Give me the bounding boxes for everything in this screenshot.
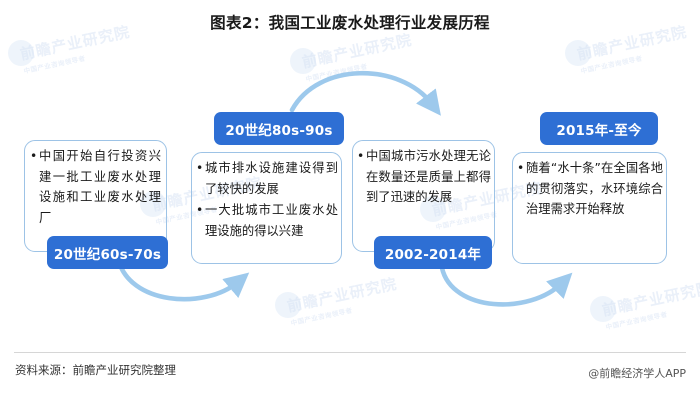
stage-content-3: 中国城市污水处理无论在数量还是质量上都得到了迅速的发展	[357, 146, 491, 209]
connector-arrow-3	[442, 268, 562, 304]
footer-divider	[14, 352, 686, 353]
attribution-note: @前瞻经济学人APP	[588, 365, 686, 381]
stage-bullet: 城市排水设施建设得到了较快的发展	[196, 158, 338, 199]
stage-label-3[interactable]: 2002-2014年	[374, 236, 492, 269]
stage-bullet: 一大批城市工业废水处理设施的得以兴建	[196, 200, 338, 241]
diagram-canvas: 前瞻产业研究院 中国产业咨询领导者 前瞻产业研究院 中国产业咨询领导者 前瞻产业…	[0, 0, 700, 400]
stage-bullet: 随着“水十条”在全国各地的贯彻落实，水环境综合治理需求开始释放	[517, 158, 663, 220]
connector-arrow-2	[292, 73, 432, 110]
stage-content-2: 城市排水设施建设得到了较快的发展 一大批城市工业废水处理设施的得以兴建	[196, 158, 338, 242]
stage-bullet: 中国开始自行投资兴建一批工业废水处理设施和工业废水处理厂	[30, 146, 161, 228]
stage-bullet: 中国城市污水处理无论在数量还是质量上都得到了迅速的发展	[357, 146, 491, 208]
source-note: 资料来源：前瞻产业研究院整理	[15, 362, 176, 378]
stage-label-2[interactable]: 20世纪80s-90s	[214, 112, 344, 145]
stage-content-4: 随着“水十条”在全国各地的贯彻落实，水环境综合治理需求开始释放	[517, 158, 663, 221]
stage-label-1[interactable]: 20世纪60s-70s	[47, 236, 168, 269]
stage-label-4[interactable]: 2015年-至今	[540, 112, 658, 145]
stage-content-1: 中国开始自行投资兴建一批工业废水处理设施和工业废水处理厂	[30, 146, 161, 229]
